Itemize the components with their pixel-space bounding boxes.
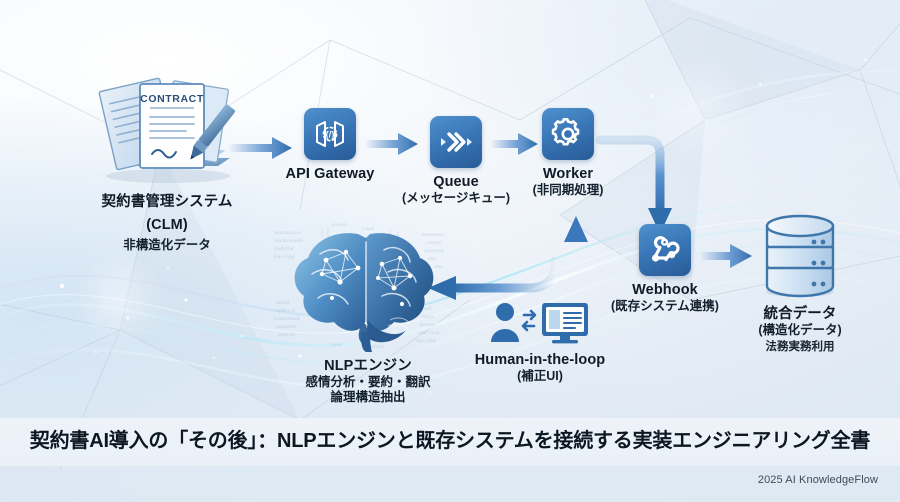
svg-text:output: output	[362, 226, 375, 231]
node-queue-label: Queue	[396, 174, 516, 191]
api-gateway-icon: {/}	[304, 108, 356, 160]
svg-text:neural network: neural network	[274, 238, 304, 243]
node-nlp-sub: 感情分析・要約・翻訳	[268, 375, 468, 390]
webhook-icon	[639, 224, 691, 276]
node-clm-paren: (CLM)	[42, 217, 292, 234]
node-database-sub: (構造化データ)	[710, 323, 890, 338]
svg-text:logic+data: logic+data	[416, 338, 437, 343]
svg-text:mind cloud: mind cloud	[418, 330, 440, 335]
node-clm-label: 契約書管理システム	[42, 194, 292, 211]
node-database-label: 統合データ	[710, 306, 890, 323]
node-hitl-label: Human-in-the-loop	[452, 352, 628, 369]
svg-text:CONTRACT: CONTRACT	[140, 93, 204, 105]
node-nlp-engine[interactable]: Neuroscience neural network model the br…	[268, 212, 468, 405]
svg-text:cortex: cortex	[330, 342, 343, 347]
page-title: 契約書AI導入の「その後」：NLPエンジンと既存システムを接続する実装エンジニア…	[0, 424, 900, 453]
svg-text:self: self	[424, 306, 432, 311]
svg-text:responses: responses	[276, 324, 297, 329]
svg-text:system of: system of	[276, 308, 296, 313]
node-api-gateway-label: API Gateway	[274, 166, 386, 183]
svg-text:data: data	[434, 264, 443, 269]
svg-text:{/}: {/}	[325, 130, 335, 140]
queue-icon	[430, 116, 482, 168]
svg-text:connect: connect	[426, 240, 442, 245]
node-clm-sub: 非構造化データ	[42, 238, 292, 253]
node-queue-sub: (メッセージキュー)	[396, 191, 516, 206]
svg-text:communicate: communicate	[274, 316, 301, 321]
diagram-canvas: CONTRACT 契約書管理システム (CLM) 非構造化データ	[0, 0, 900, 502]
svg-text:Neural: Neural	[276, 300, 289, 305]
node-worker-label: Worker	[512, 166, 624, 183]
node-worker-sub: (非同期処理)	[512, 183, 624, 198]
svg-text:Neuroscience: Neuroscience	[274, 230, 301, 235]
node-database-sub2: 法務実務利用	[710, 341, 890, 355]
svg-text:determines: determines	[422, 232, 445, 237]
arrow-hitl-to-worker	[564, 216, 588, 300]
node-hitl-sub: (補正UI)	[452, 369, 628, 384]
svg-text:process: process	[332, 222, 348, 227]
node-clm[interactable]: CONTRACT 契約書管理システム (CLM) 非構造化データ	[42, 70, 292, 253]
node-nlp-label: NLPエンジン	[268, 358, 468, 375]
brain-network-icon: Neuroscience neural network model the br…	[270, 212, 466, 352]
credit-label: 2025 AI KnowledgeFlow	[758, 474, 878, 486]
svg-text:model the: model the	[274, 246, 294, 251]
node-human-in-the-loop[interactable]: Human-in-the-loop (補正UI)	[452, 298, 628, 384]
contract-document-icon: CONTRACT	[72, 70, 262, 188]
svg-text:brain input: brain input	[274, 254, 295, 259]
svg-text:deep.net: deep.net	[278, 332, 296, 337]
gear-icon	[542, 108, 594, 160]
svg-text:hence: hence	[422, 314, 435, 319]
node-worker[interactable]: Worker (非同期処理)	[512, 108, 624, 198]
node-nlp-sub2: 論理構造抽出	[268, 390, 468, 405]
svg-text:process: process	[420, 322, 436, 327]
node-database[interactable]: 統合データ (構造化データ) 法務実務利用	[710, 204, 890, 355]
database-cylinder-icon	[752, 204, 848, 300]
node-queue[interactable]: Queue (メッセージキュー)	[396, 116, 516, 206]
node-api-gateway[interactable]: {/} API Gateway	[274, 108, 386, 183]
svg-text:with: with	[428, 256, 436, 261]
human-in-the-loop-icon	[488, 298, 592, 346]
svg-text:command: command	[424, 248, 444, 253]
